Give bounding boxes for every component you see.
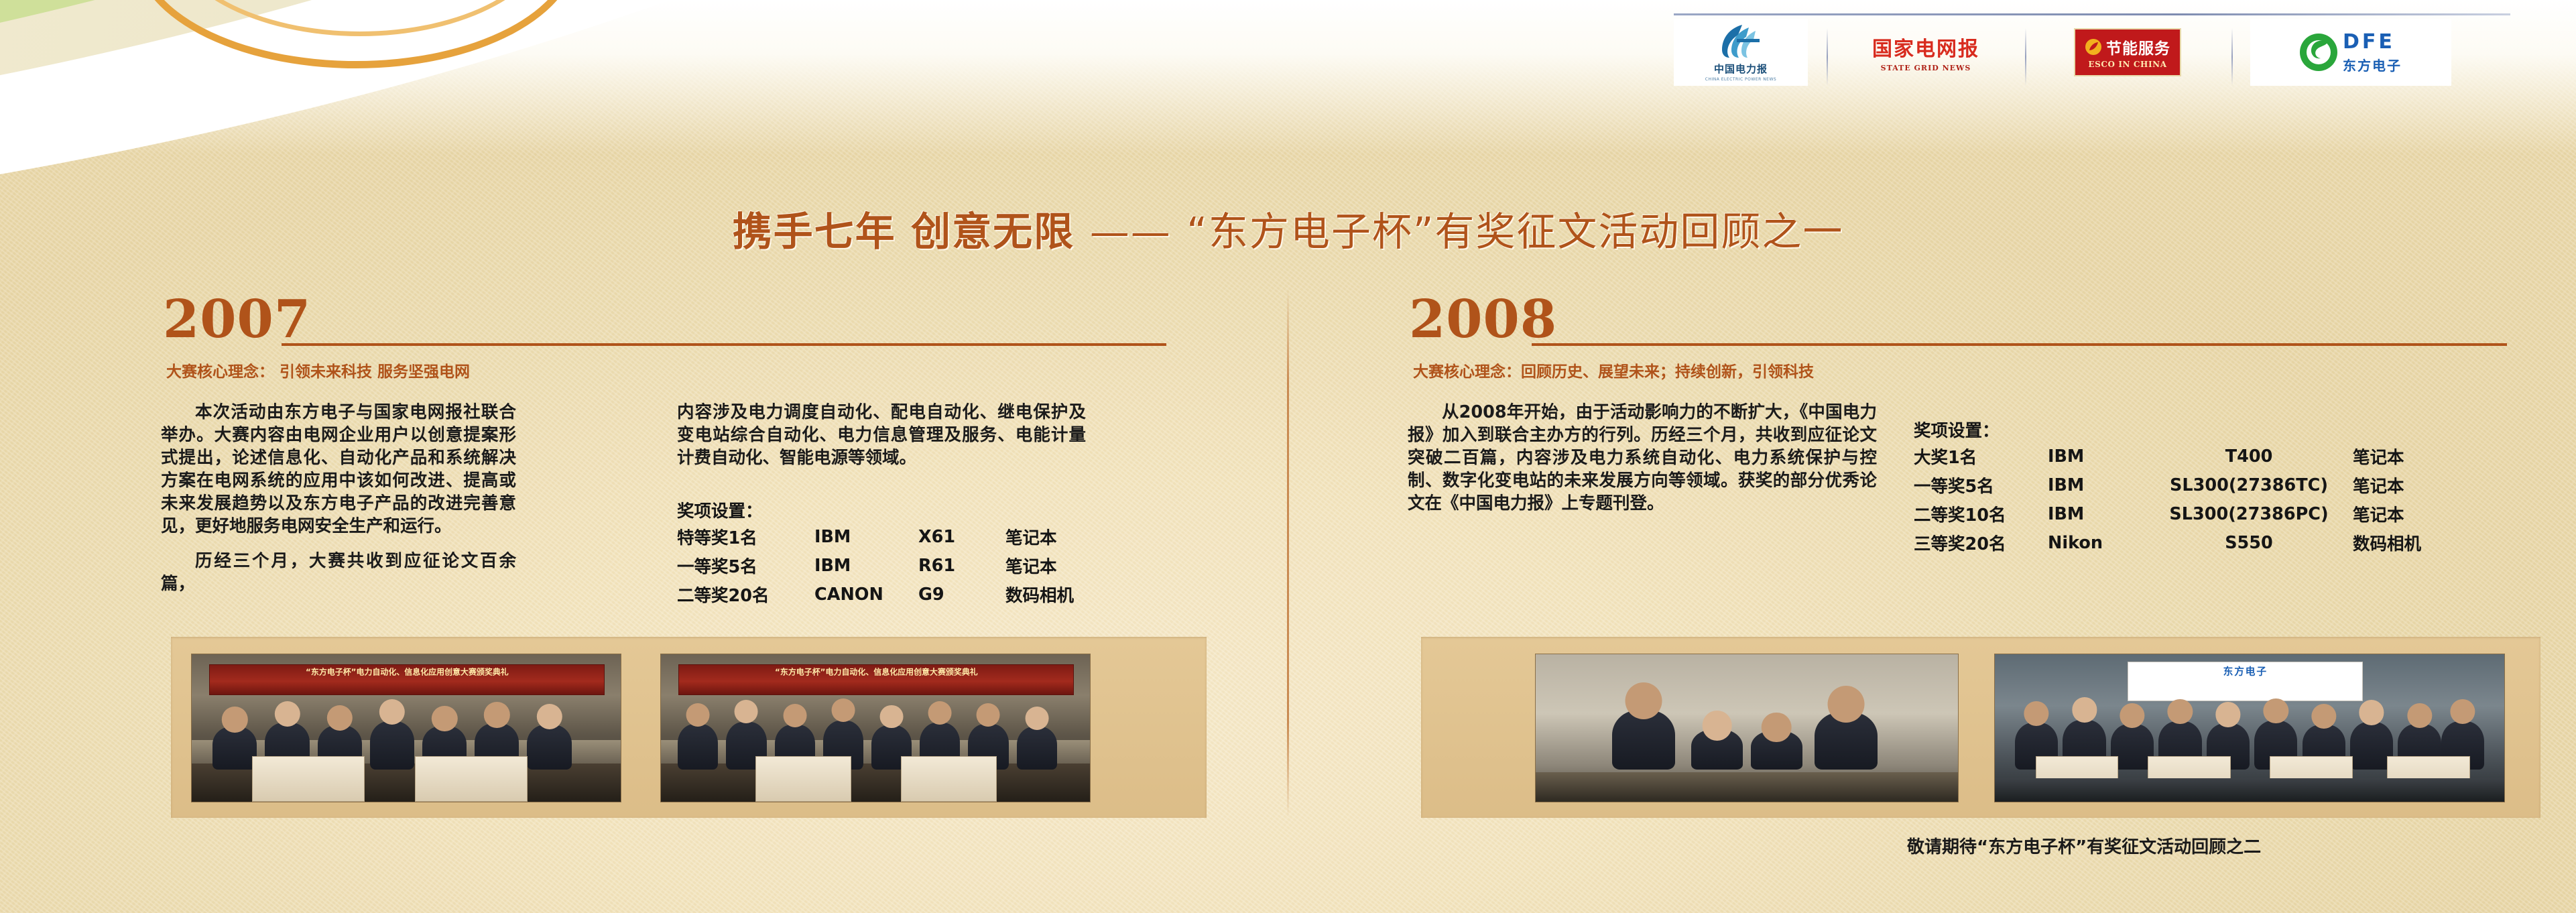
year-heading-2007: 2007 (163, 294, 311, 346)
award-level: 三等奖20名 (1914, 530, 2048, 559)
title-sub: “东方电子杯”有奖征文活动回顾之一 (1186, 208, 1843, 255)
table-row: 三等奖20名 Nikon S550 数码相机 (1914, 530, 2421, 559)
paragraph: 内容涉及电力调度自动化、配电自动化、继电保护及变电站综合自动化、电力信息管理及服… (677, 401, 1086, 469)
award-ceremony-photo-2008-a (1535, 654, 1959, 802)
paragraph: 历经三个月，大赛共收到应征论文百余篇， (161, 550, 516, 595)
table-row: 大奖1名 IBM T400 笔记本 (1914, 444, 2421, 473)
award-level: 一等奖5名 (677, 553, 814, 582)
award-brand: IBM (2048, 501, 2145, 530)
paragraph: 从2008年开始，由于活动影响力的不断扩大，《中国电力报》加入到联合主办方的行列… (1408, 401, 1877, 515)
award-model: S550 (2145, 530, 2353, 559)
award-prize: 笔记本 (2353, 473, 2421, 501)
award-level: 特等奖1名 (677, 524, 814, 553)
award-model: SL300(27386TC) (2145, 473, 2353, 501)
state-grid-news-en: STATE GRID NEWS (1881, 64, 1971, 72)
awards-table-2008: 大奖1名 IBM T400 笔记本 一等奖5名 IBM SL300(27386T… (1914, 444, 2421, 559)
dongfang-electronics-logo: DFE 东方电子 (2250, 19, 2451, 86)
award-ceremony-photo-2008-b: 东方电子 (1994, 654, 2505, 802)
award-level: 大奖1名 (1914, 444, 2048, 473)
esco-logo-cn: 节能服务 (2106, 36, 2170, 58)
award-brand: IBM (2048, 444, 2145, 473)
concept-2008: 大赛核心理念：回顾历史、展望未来；持续创新，引领科技 (1413, 359, 1814, 381)
photo-people (1548, 705, 1945, 770)
title-main: 携手七年 创意无限 (733, 208, 1075, 255)
award-brand: IBM (2048, 473, 2145, 501)
award-prize: 笔记本 (1005, 553, 1074, 582)
paragraph: 本次活动由东方电子与国家电网报社联合举办。大赛内容由电网企业用户以创意提案形式提… (161, 401, 516, 538)
state-grid-news-cn: 国家电网报 (1872, 32, 1979, 62)
year-rule-2008 (1532, 343, 2507, 346)
award-brand: IBM (814, 553, 918, 582)
cepn-logo-cn: 中国电力报 (1714, 62, 1768, 76)
body-text-2007-left: 本次活动由东方电子与国家电网报社联合举办。大赛内容由电网企业用户以创意提案形式提… (161, 401, 516, 607)
award-prize: 笔记本 (1005, 524, 1074, 553)
award-model: T400 (2145, 444, 2353, 473)
table-row: 一等奖5名 IBM SL300(27386TC) 笔记本 (1914, 473, 2421, 501)
concept-2007: 大赛核心理念： 引领未来科技 服务坚强电网 (166, 359, 470, 381)
award-prize: 数码相机 (2353, 530, 2421, 559)
footer-note: 敬请期待“东方电子杯”有奖征文活动回顾之二 (1907, 833, 2261, 858)
award-level: 二等奖20名 (677, 582, 814, 611)
dfe-logo-en: DFE (2343, 30, 2402, 54)
award-level: 二等奖10名 (1914, 501, 2048, 530)
esco-in-china-logo: 节能服务 ESCO IN CHINA (2044, 19, 2211, 86)
body-text-2007-right: 内容涉及电力调度自动化、配电自动化、继电保护及变电站综合自动化、电力信息管理及服… (677, 401, 1086, 481)
award-prize: 笔记本 (2353, 501, 2421, 530)
awards-title-2008: 奖项设置： (1914, 417, 2000, 442)
sponsor-logo-bar: 中国电力报 CHINA ELECTRIC POWER NEWS 国家电网报 ST… (1674, 12, 2512, 86)
photo-people (674, 705, 1077, 770)
logo-divider-1 (1827, 28, 1828, 86)
state-grid-news-logo: 国家电网报 STATE GRID NEWS (1845, 19, 2006, 86)
title-dash: —— (1090, 208, 1172, 255)
award-model: R61 (918, 553, 1005, 582)
dfe-swirl-icon (2300, 32, 2337, 72)
china-electric-power-news-logo: 中国电力报 CHINA ELECTRIC POWER NEWS (1674, 19, 1808, 86)
award-prize: 笔记本 (2353, 444, 2421, 473)
awards-title-2007: 奖项设置： (677, 497, 763, 522)
dfe-logo-cn: 东方电子 (2343, 55, 2402, 74)
year-rule-2007 (282, 343, 1166, 346)
esco-leaf-icon (2085, 38, 2102, 56)
table-row: 二等奖10名 IBM SL300(27386PC) 笔记本 (1914, 501, 2421, 530)
body-text-2008: 从2008年开始，由于活动影响力的不断扩大，《中国电力报》加入到联合主办方的行列… (1408, 401, 1877, 527)
award-brand: CANON (814, 582, 918, 611)
year-heading-2008: 2008 (1409, 294, 1557, 346)
page-title: 携手七年 创意无限 —— “东方电子杯”有奖征文活动回顾之一 (0, 200, 2576, 257)
award-model: G9 (918, 582, 1005, 611)
award-ceremony-photo-2007-b: “东方电子杯”电力自动化、信息化应用创意大赛颁奖典礼 (660, 654, 1091, 802)
logo-divider-2 (2025, 28, 2026, 86)
column-divider (1287, 288, 1289, 818)
table-row: 特等奖1名 IBM X61 笔记本 (677, 524, 1074, 553)
award-model: SL300(27386PC) (2145, 501, 2353, 530)
logo-divider-3 (2231, 28, 2233, 86)
award-brand: IBM (814, 524, 918, 553)
esco-logo-en: ESCO IN CHINA (2088, 60, 2166, 69)
award-ceremony-photo-2007-a: “东方电子杯”电力自动化、信息化应用创意大赛颁奖典礼 (191, 654, 621, 802)
photo-banner-text: “东方电子杯”电力自动化、信息化应用创意大赛颁奖典礼 (225, 666, 589, 677)
cepn-logo-en: CHINA ELECTRIC POWER NEWS (1705, 77, 1776, 82)
photo-banner-text: “东方电子杯”电力自动化、信息化应用创意大赛颁奖典礼 (694, 666, 1058, 677)
award-prize: 数码相机 (1005, 582, 1074, 611)
award-level: 一等奖5名 (1914, 473, 2048, 501)
award-model: X61 (918, 524, 1005, 553)
table-row: 一等奖5名 IBM R61 笔记本 (677, 553, 1074, 582)
award-brand: Nikon (2048, 530, 2145, 559)
awards-table-2007: 特等奖1名 IBM X61 笔记本 一等奖5名 IBM R61 笔记本 二等奖2… (677, 524, 1074, 611)
cepn-mark-icon (1711, 23, 1770, 60)
photo-banner-text: 东方电子 (2138, 663, 2353, 676)
table-row: 二等奖20名 CANON G9 数码相机 (677, 582, 1074, 611)
